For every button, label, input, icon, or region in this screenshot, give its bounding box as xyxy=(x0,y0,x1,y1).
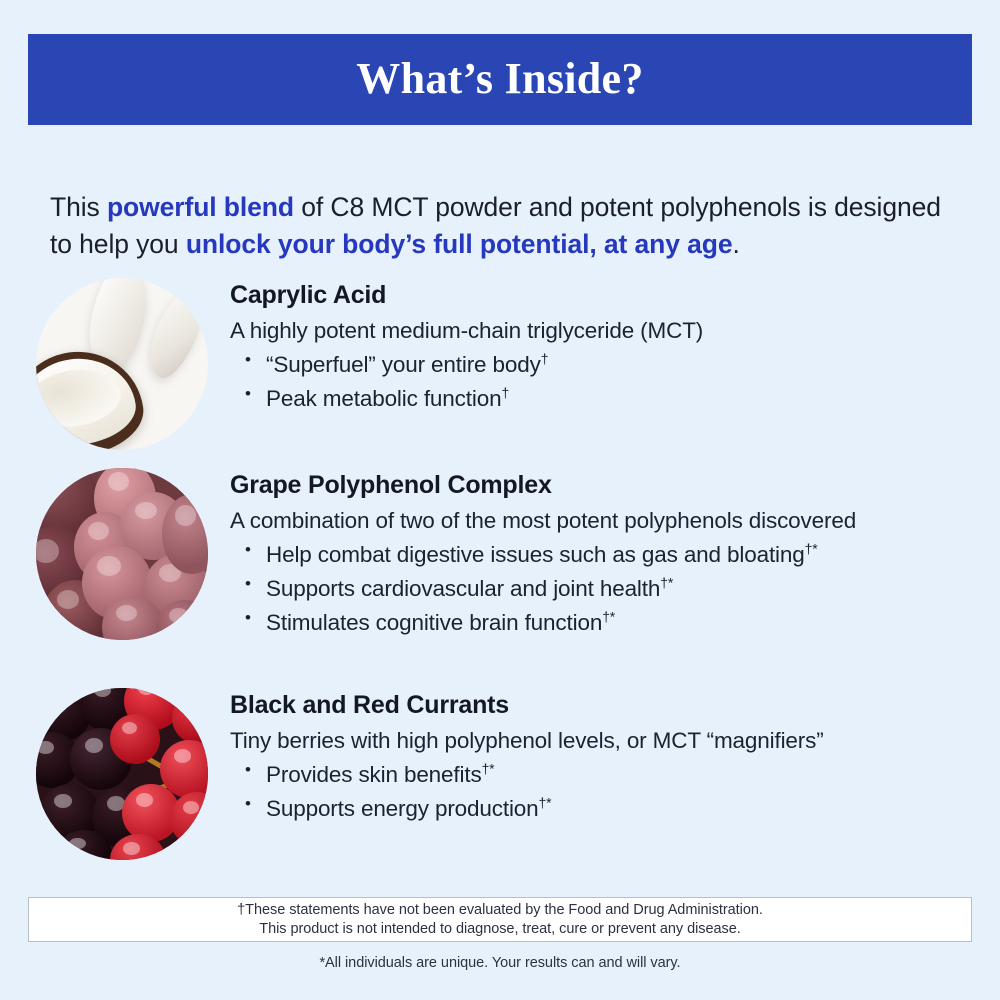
intro-text-part1: This xyxy=(50,192,107,222)
black-and-red-currants-photo xyxy=(36,688,208,860)
ingredient-section-black-and-red-currants: Black and Red Currants Tiny berries with… xyxy=(36,688,976,860)
ingredient-text-block: Black and Red Currants Tiny berries with… xyxy=(230,688,976,826)
benefit-text: Supports cardiovascular and joint health xyxy=(266,576,660,601)
section-title: Grape Polyphenol Complex xyxy=(230,472,976,500)
list-item: Supports cardiovascular and joint health… xyxy=(230,572,976,606)
benefit-list: Help combat digestive issues such as gas… xyxy=(230,538,976,641)
benefit-text: Help combat digestive issues such as gas… xyxy=(266,542,805,567)
disclaimer-line-1: †These statements have not been evaluate… xyxy=(237,901,763,920)
intro-text-part3: . xyxy=(733,229,740,259)
benefit-list: “Superfuel” your entire body† Peak metab… xyxy=(230,348,976,416)
coconut-piece-icon xyxy=(139,284,208,384)
footnote-mark: † xyxy=(541,350,549,366)
fda-disclaimer-box: †These statements have not been evaluate… xyxy=(28,897,972,942)
benefit-text: Peak metabolic function xyxy=(266,386,501,411)
benefit-text: “Superfuel” your entire body xyxy=(266,352,541,377)
ingredient-thumbnail-wrap xyxy=(36,688,208,860)
benefit-list: Provides skin benefits†* Supports energy… xyxy=(230,758,976,826)
intro-highlight-full-potential: unlock your body’s full potential, at an… xyxy=(186,229,733,259)
red-currant-icon xyxy=(164,838,208,860)
ingredient-thumbnail-wrap xyxy=(36,278,208,450)
footnote-mark: †* xyxy=(602,609,615,625)
list-item: Supports energy production†* xyxy=(230,792,976,826)
red-currant-icon xyxy=(110,714,160,764)
ingredient-section-caprylic-acid: Caprylic Acid A highly potent medium-cha… xyxy=(36,278,976,450)
red-grapes-photo xyxy=(36,468,208,640)
ingredient-text-block: Grape Polyphenol Complex A combination o… xyxy=(230,468,976,641)
section-title: Caprylic Acid xyxy=(230,282,976,310)
benefit-text: Stimulates cognitive brain function xyxy=(266,610,602,635)
list-item: Provides skin benefits†* xyxy=(230,758,976,792)
results-vary-note: *All individuals are unique. Your result… xyxy=(0,955,1000,971)
header-band: What’s Inside? xyxy=(28,34,972,125)
ingredient-thumbnail-wrap xyxy=(36,468,208,640)
footnote-mark: †* xyxy=(660,575,673,591)
list-item: “Superfuel” your entire body† xyxy=(230,348,976,382)
section-title: Black and Red Currants xyxy=(230,692,976,720)
disclaimer-line-2: This product is not intended to diagnose… xyxy=(259,920,740,939)
intro-highlight-powerful-blend: powerful blend xyxy=(107,192,294,222)
list-item: Stimulates cognitive brain function†* xyxy=(230,606,976,640)
ingredient-section-grape-polyphenol-complex: Grape Polyphenol Complex A combination o… xyxy=(36,468,976,641)
page-title: What’s Inside? xyxy=(356,57,643,101)
section-description: A highly potent medium-chain triglycerid… xyxy=(230,317,976,344)
list-item: Help combat digestive issues such as gas… xyxy=(230,538,976,572)
footnote-mark: †* xyxy=(482,760,495,776)
coconut-photo xyxy=(36,278,208,450)
footnote-mark: †* xyxy=(539,795,552,811)
section-description: A combination of two of the most potent … xyxy=(230,507,976,534)
list-item: Peak metabolic function† xyxy=(230,382,976,416)
footnote-mark: † xyxy=(501,385,509,401)
footnote-mark: †* xyxy=(805,540,818,556)
coconut-half-icon xyxy=(36,343,149,450)
intro-paragraph: This powerful blend of C8 MCT powder and… xyxy=(50,189,960,263)
section-description: Tiny berries with high polyphenol levels… xyxy=(230,727,976,754)
benefit-text: Provides skin benefits xyxy=(266,762,482,787)
benefit-text: Supports energy production xyxy=(266,796,539,821)
ingredient-text-block: Caprylic Acid A highly potent medium-cha… xyxy=(230,278,976,416)
